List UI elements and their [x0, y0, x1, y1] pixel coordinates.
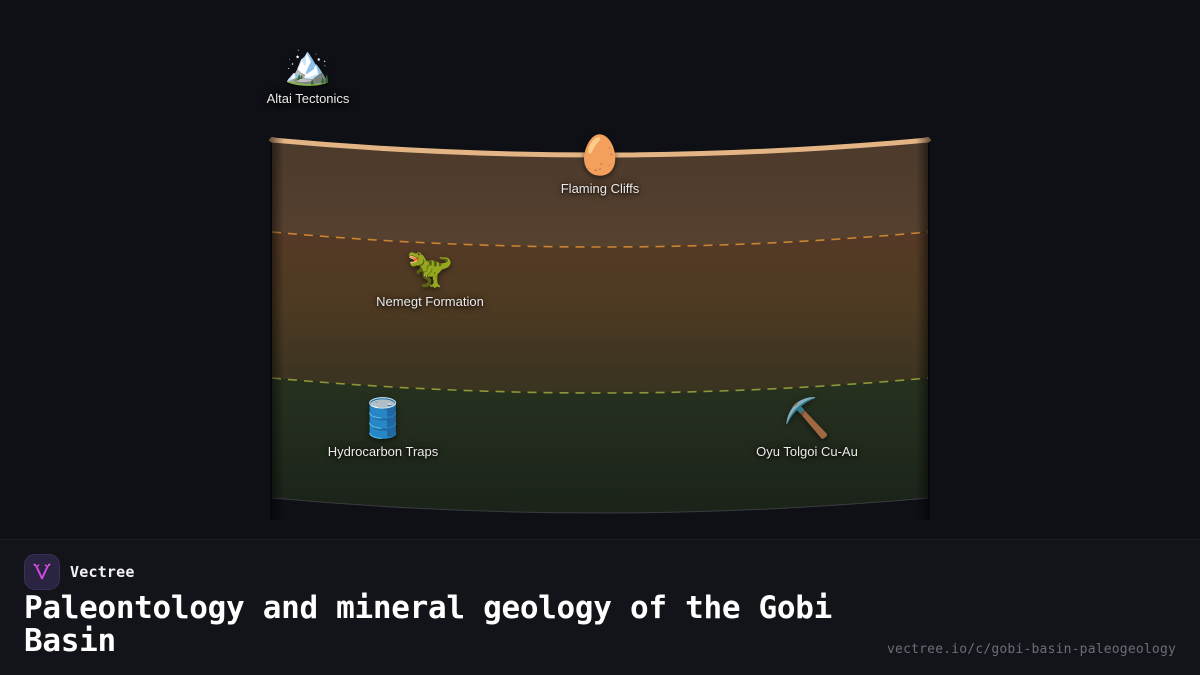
- node-altai-tectonics[interactable]: 🏔️ Altai Tectonics: [218, 42, 398, 106]
- right-edge-shade: [916, 138, 930, 520]
- node-flaming-cliffs[interactable]: 🥚 Flaming Cliffs: [510, 132, 690, 196]
- footer-bar: Vectree Paleontology and mineral geology…: [0, 539, 1200, 675]
- t-rex-icon: 🦖: [340, 245, 520, 291]
- snow-capped-mountain-icon: 🏔️: [218, 42, 398, 88]
- source-url: vectree.io/c/gobi-basin-paleogeology: [887, 642, 1176, 657]
- node-nemegt-formation[interactable]: 🦖 Nemegt Formation: [340, 245, 520, 309]
- node-label: Nemegt Formation: [340, 294, 520, 309]
- pick-icon: ⛏️: [717, 395, 897, 441]
- vectree-logo-icon: [24, 554, 60, 590]
- screenshot-canvas: 🏔️ Altai Tectonics 🥚 Flaming Cliffs 🦖 Ne…: [0, 0, 1200, 675]
- node-oyu-tolgoi[interactable]: ⛏️ Oyu Tolgoi Cu-Au: [717, 395, 897, 459]
- brand-block[interactable]: Vectree: [24, 554, 135, 590]
- node-label: Hydrocarbon Traps: [293, 444, 473, 459]
- node-label: Altai Tectonics: [218, 91, 398, 106]
- egg-icon: 🥚: [510, 132, 690, 178]
- brand-name: Vectree: [70, 563, 135, 581]
- page-title: Paleontology and mineral geology of the …: [24, 592, 904, 658]
- node-label: Flaming Cliffs: [510, 181, 690, 196]
- left-edge-shade: [270, 138, 284, 520]
- oil-drum-icon: 🛢️: [293, 395, 473, 441]
- node-label: Oyu Tolgoi Cu-Au: [717, 444, 897, 459]
- node-hydrocarbon-traps[interactable]: 🛢️ Hydrocarbon Traps: [293, 395, 473, 459]
